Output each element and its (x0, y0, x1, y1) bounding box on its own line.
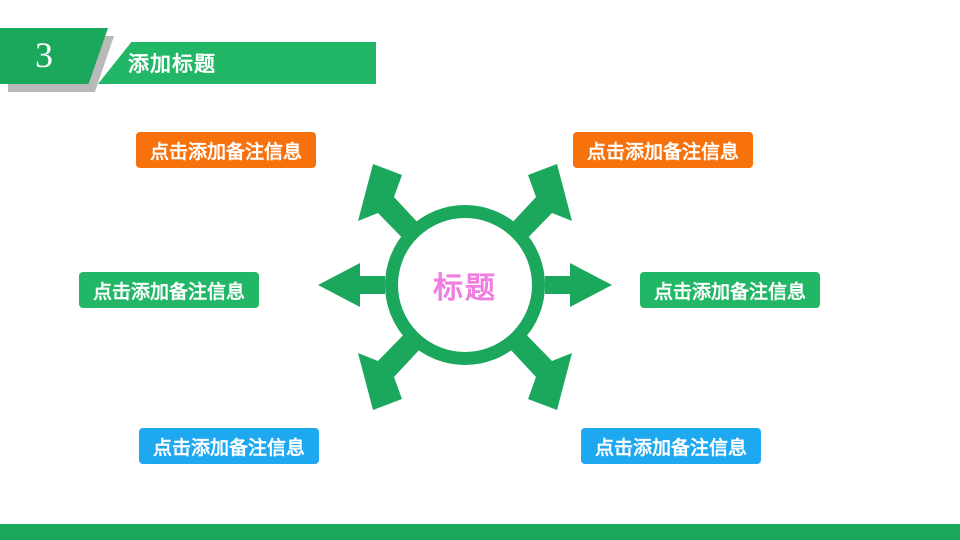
arrow-right (545, 263, 612, 307)
footer-bar (0, 524, 960, 540)
node-top-right[interactable]: 点击添加备注信息 (573, 132, 753, 168)
node-bottom-left[interactable]: 点击添加备注信息 (139, 428, 319, 464)
node-bottom-right-label: 点击添加备注信息 (595, 433, 747, 460)
center-node-label: 标题 (433, 263, 497, 307)
slide-header: 3 添加标题 (0, 28, 400, 88)
arrow-left (318, 263, 385, 307)
radial-diagram: 标题 点击添加备注信息 点击添加备注信息 点击添加备注信息 点击添加备注信息 点… (0, 95, 960, 505)
center-node[interactable]: 标题 (385, 205, 545, 365)
node-top-right-label: 点击添加备注信息 (587, 137, 739, 164)
node-top-left[interactable]: 点击添加备注信息 (136, 132, 316, 168)
slide-number: 3 (0, 28, 88, 84)
node-top-left-label: 点击添加备注信息 (150, 137, 302, 164)
node-middle-left[interactable]: 点击添加备注信息 (79, 272, 259, 308)
node-bottom-left-label: 点击添加备注信息 (153, 433, 305, 460)
node-middle-right[interactable]: 点击添加备注信息 (640, 272, 820, 308)
node-middle-left-label: 点击添加备注信息 (93, 277, 245, 304)
node-bottom-right[interactable]: 点击添加备注信息 (581, 428, 761, 464)
page-title: 添加标题 (128, 48, 216, 78)
node-middle-right-label: 点击添加备注信息 (654, 277, 806, 304)
